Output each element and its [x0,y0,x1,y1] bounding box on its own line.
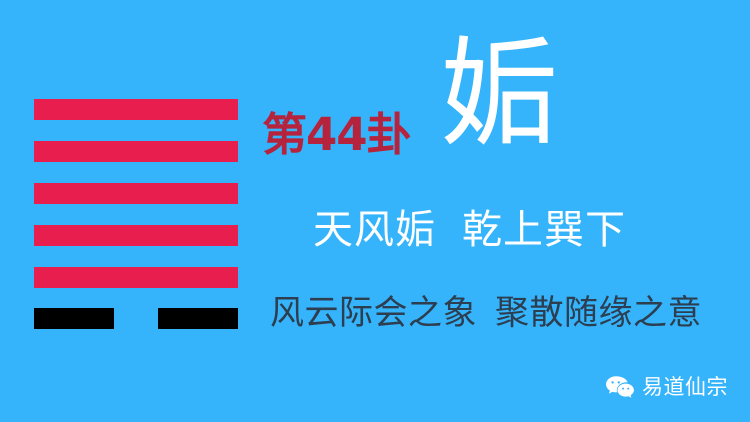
meaning-phrase-right: 聚散随缘之意 [495,293,702,333]
meaning-phrase-left: 风云际会之象 [270,293,477,333]
hexagram-number-label: 第44卦 [262,112,411,157]
trigram-structure-line: 天风姤乾上巽下 [313,208,626,253]
hexagram-line-6-yang [34,99,238,120]
hexagram-meaning-line: 风云际会之象聚散随缘之意 [270,294,702,332]
hexagram-symbol [34,99,238,329]
hexagram-line-1-yin [34,308,238,329]
wechat-icon [605,375,635,400]
hexagram-card: 第44卦 姤 天风姤乾上巽下 风云际会之象聚散随缘之意 易道仙宗 [0,0,750,422]
yang-bar [34,141,238,162]
hexagram-line-5-yang [34,141,238,162]
hexagram-name-glyph: 姤 [440,33,558,157]
trigram-structure-right: 乾上巽下 [462,207,626,253]
wechat-account-badge[interactable]: 易道仙宗 [605,375,728,400]
trigram-structure-left: 天风姤 [313,207,436,253]
wechat-account-name: 易道仙宗 [642,377,728,398]
headline-block: 第44卦 姤 [262,33,592,163]
yang-bar [34,267,238,288]
yang-bar [34,183,238,204]
yang-bar [34,99,238,120]
yang-bar [34,225,238,246]
hexagram-line-2-yang [34,267,238,288]
hexagram-line-4-yang [34,183,238,204]
yin-bar-left [34,308,114,329]
hexagram-line-3-yang [34,225,238,246]
yin-bar-right [158,308,238,329]
